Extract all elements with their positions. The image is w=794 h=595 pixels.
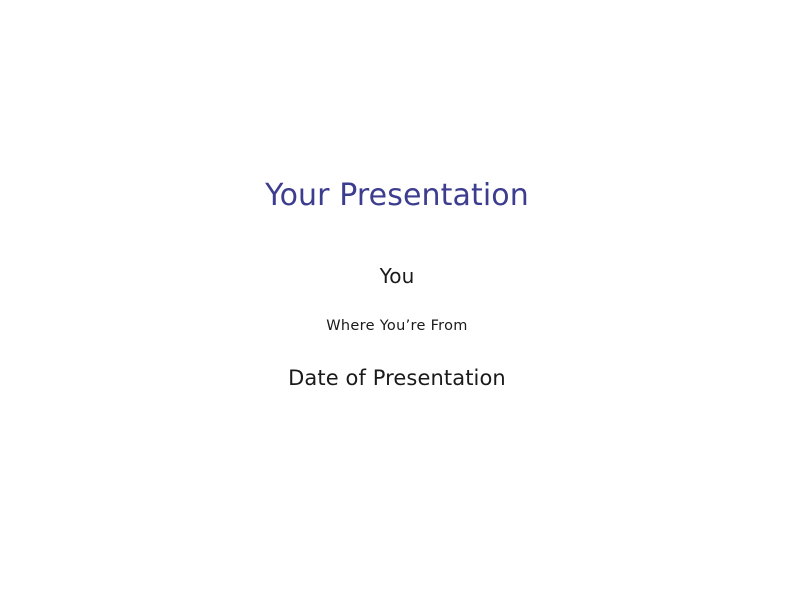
presentation-date: Date of Presentation — [0, 365, 794, 391]
presentation-slide: Your Presentation You Where You’re From … — [0, 0, 794, 595]
presentation-title: Your Presentation — [0, 179, 794, 213]
presentation-institute: Where You’re From — [0, 317, 794, 335]
title-page-block: Your Presentation You Where You’re From … — [0, 0, 794, 595]
presentation-author: You — [0, 264, 794, 288]
